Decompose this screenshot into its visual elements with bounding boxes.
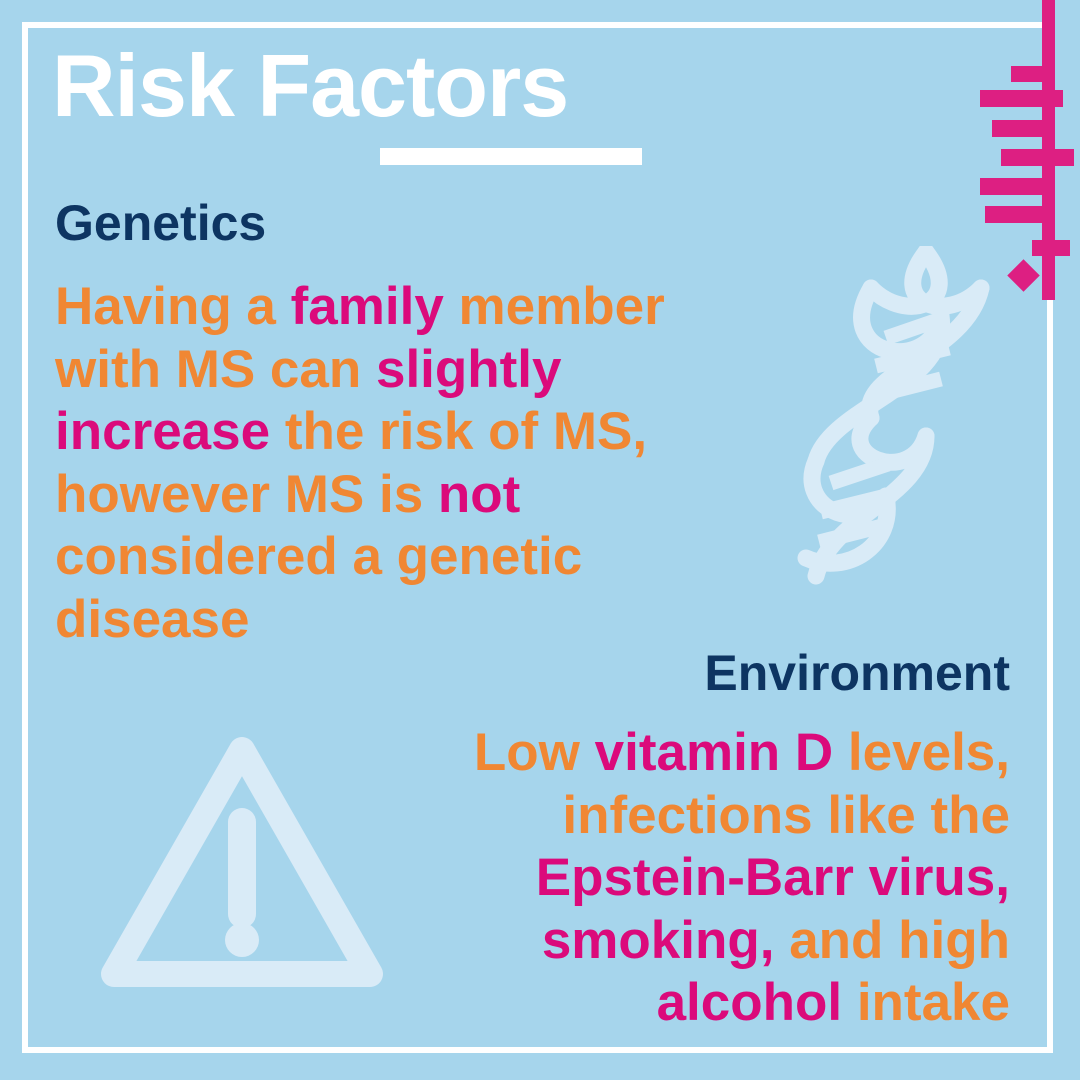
pink-vertical-line [1042,0,1055,300]
highlighted-text: family [291,277,444,336]
section-body-genetics: Having a family memberwith MS can slight… [55,276,755,651]
text-line: Low vitamin D levels, [390,722,1010,785]
pink-tick-bar-5 [980,178,1043,195]
body-text-run: infections like the [562,786,1010,845]
pink-tick-bar-6 [985,206,1043,223]
dna-double-helix-icon [736,246,1006,596]
pink-tick-bar-7 [1032,240,1070,256]
body-text-run: Having a [55,277,291,336]
title-underline-rule [380,148,642,165]
warning-triangle-exclamation-icon [82,702,402,1022]
section-heading-environment: Environment [704,648,1010,698]
body-text-run: with MS can [55,340,376,399]
pink-tick-bar-1 [1011,66,1043,82]
body-text-run: the risk of MS, [270,402,647,461]
body-text-run: member [444,277,665,336]
body-text-run: disease [55,590,249,649]
page-title: Risk Factors [52,42,568,130]
pink-diamond-marker [1007,259,1040,292]
body-text-run: however MS is [55,465,438,524]
text-line: increase the risk of MS, [55,401,755,464]
infographic-canvas: Risk Factors Genetics Having a family me… [0,0,1080,1080]
pink-tick-bar-4 [1001,149,1074,166]
text-line: however MS is not [55,464,755,527]
text-line: smoking, and high [390,910,1010,973]
text-line: disease [55,589,755,652]
text-line: alcohol intake [390,972,1010,1035]
body-text-run: considered a genetic [55,527,582,586]
highlighted-text: smoking, [542,911,775,970]
section-heading-genetics: Genetics [55,198,266,248]
section-body-environment: Low vitamin D levels,infections like the… [390,722,1010,1035]
highlighted-text: not [438,465,520,524]
body-text-run: intake [842,973,1010,1032]
highlighted-text: alcohol [657,973,843,1032]
text-line: Having a family member [55,276,755,339]
text-line: Epstein-Barr virus, [390,847,1010,910]
text-line: considered a genetic [55,526,755,589]
body-text-run: Low [474,723,595,782]
pink-tick-bar-2 [980,90,1063,107]
highlighted-text: vitamin D [595,723,834,782]
pink-tick-bar-3 [992,120,1043,137]
body-text-run: levels, [833,723,1010,782]
highlighted-text: increase [55,402,270,461]
highlighted-text: Epstein-Barr virus, [536,848,1010,907]
text-line: with MS can slightly [55,339,755,402]
text-line: infections like the [390,785,1010,848]
highlighted-text: slightly [376,340,562,399]
body-text-run: and high [774,911,1010,970]
